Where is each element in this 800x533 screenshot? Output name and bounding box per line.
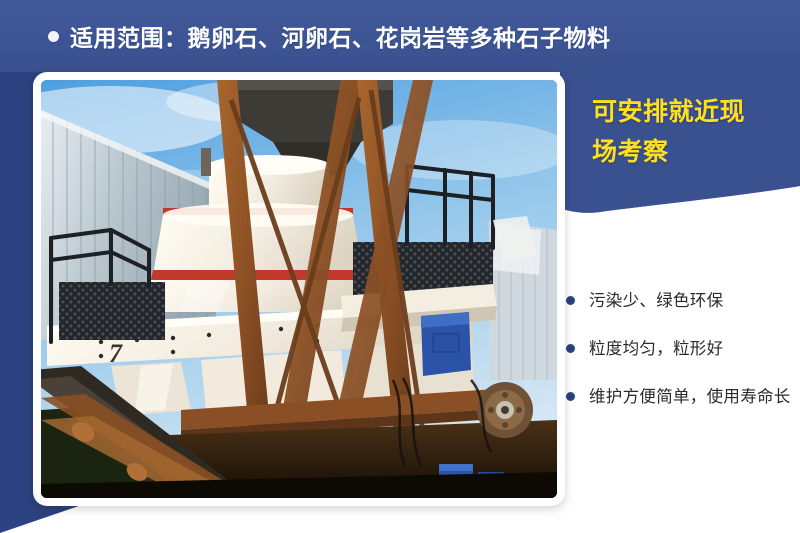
drive-pulley xyxy=(477,382,533,438)
dot-icon xyxy=(566,344,575,353)
list-item: 粒度均匀，粒形好 xyxy=(566,336,798,362)
dot-icon xyxy=(566,296,575,305)
dot-icon xyxy=(48,31,59,42)
feature-label: 污染少、绿色环保 xyxy=(589,288,723,314)
headline-callout: 可安排就近现 场考察 xyxy=(592,92,792,172)
promo-banner-page: 适用范围：鹅卵石、河卵石、花岗岩等多种石子物料 可安排就近现 场考察 xyxy=(0,0,800,533)
feature-list: 污染少、绿色环保 粒度均匀，粒形好 维护方便简单，使用寿命长 xyxy=(566,288,798,432)
list-item: 维护方便简单，使用寿命长 xyxy=(566,384,798,410)
photo-frame: 7 xyxy=(41,80,557,498)
page-title: 适用范围：鹅卵石、河卵石、花岗岩等多种石子物料 xyxy=(70,19,611,53)
machine-number-label: 7 xyxy=(109,339,123,368)
headline-line-2: 场考察 xyxy=(592,132,792,172)
feature-label: 维护方便简单，使用寿命长 xyxy=(589,384,791,410)
dot-icon xyxy=(566,392,575,401)
machine-site-photo: 7 xyxy=(41,80,557,498)
headline-line-1: 可安排就近现 xyxy=(592,92,792,132)
header-bar: 适用范围：鹅卵石、河卵石、花岗岩等多种石子物料 xyxy=(0,0,800,72)
feature-label: 粒度均匀，粒形好 xyxy=(589,336,723,362)
list-item: 污染少、绿色环保 xyxy=(566,288,798,314)
photo-card: 7 xyxy=(33,72,565,506)
